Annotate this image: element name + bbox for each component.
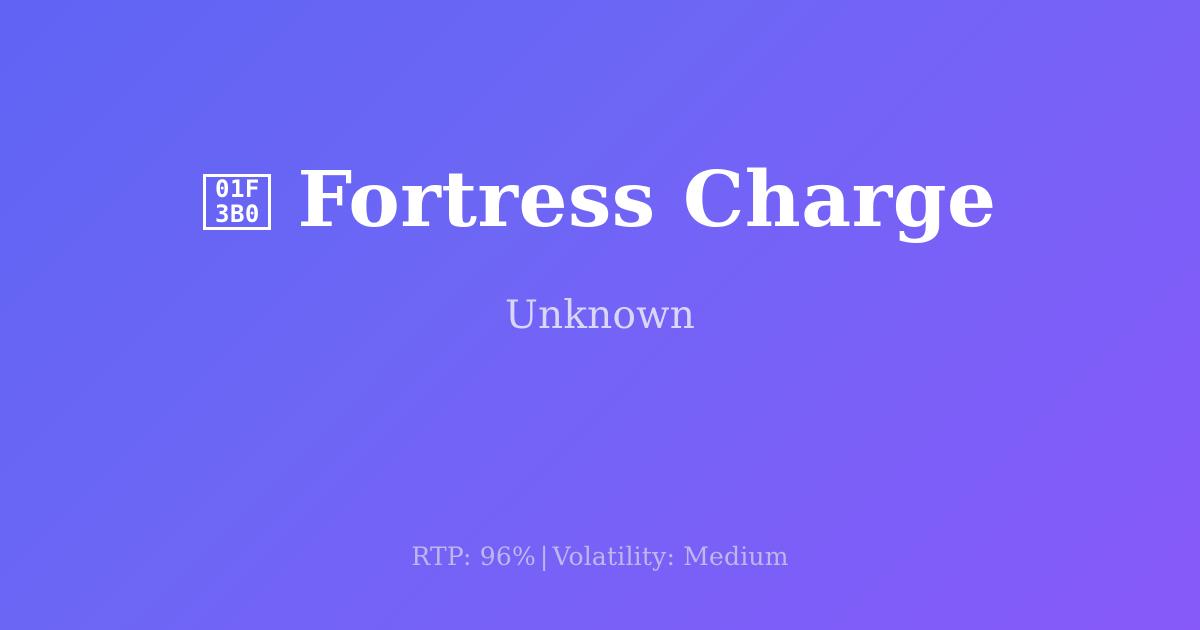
title-row: 01F 3B0 Fortress Charge bbox=[60, 162, 1140, 239]
meta-separator: | bbox=[536, 542, 553, 571]
volatility-label: Volatility: Medium bbox=[553, 542, 789, 571]
game-provider: Unknown bbox=[505, 295, 695, 338]
hero-section: 01F 3B0 Fortress Charge Unknown bbox=[0, 0, 1200, 500]
codepoint-top: 01F bbox=[215, 177, 260, 202]
page-title: Fortress Charge bbox=[297, 162, 996, 239]
codepoint-bottom: 3B0 bbox=[215, 202, 260, 227]
game-meta-line: RTP: 96%|Volatility: Medium bbox=[0, 542, 1200, 572]
rtp-label: RTP: 96% bbox=[411, 542, 536, 571]
slot-machine-icon: 01F 3B0 bbox=[203, 174, 271, 230]
game-og-card: 01F 3B0 Fortress Charge Unknown RTP: 96%… bbox=[0, 0, 1200, 630]
